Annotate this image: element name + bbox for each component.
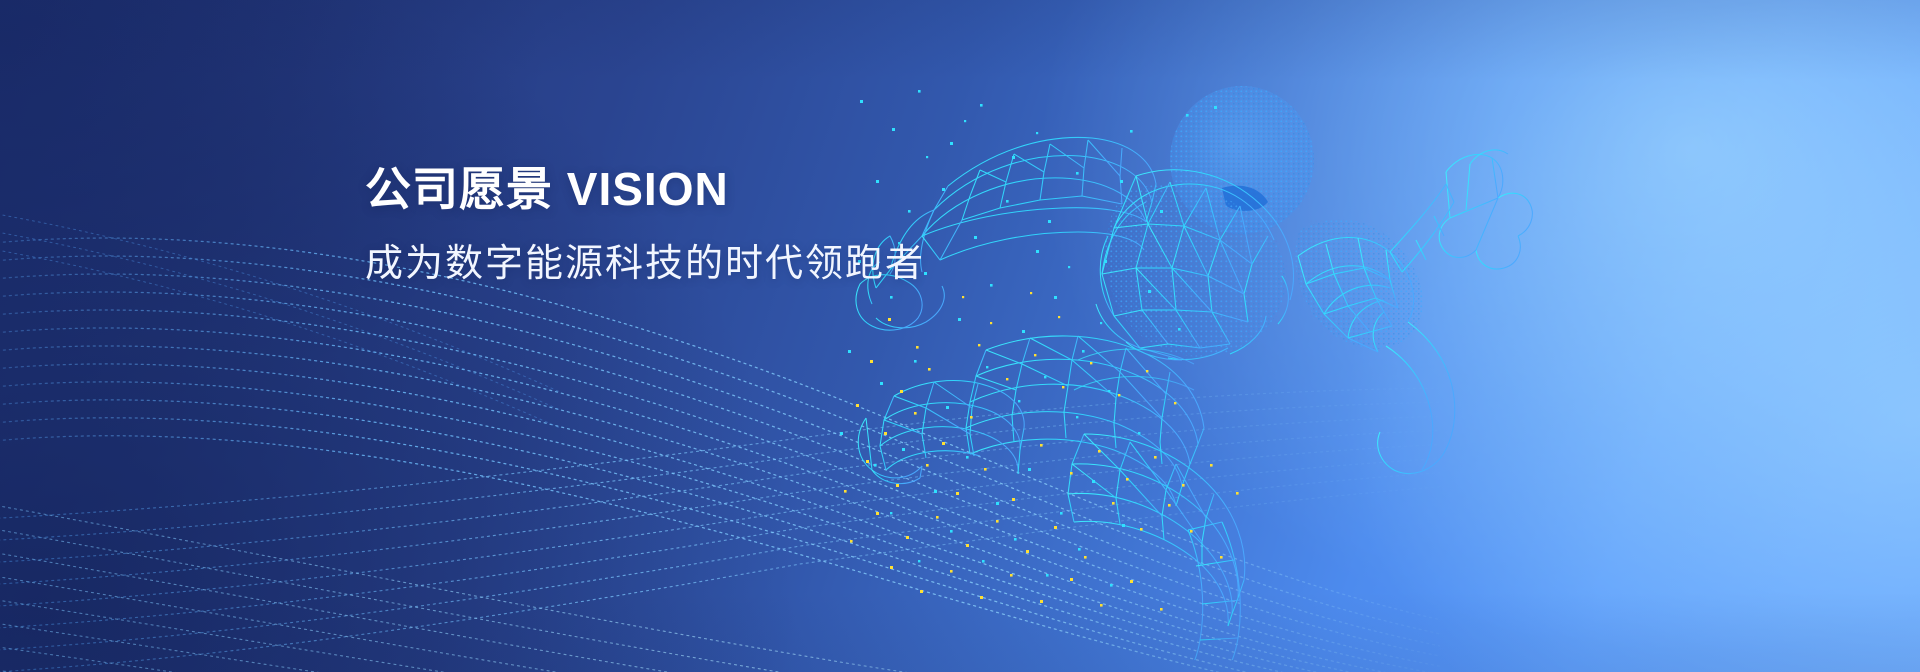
page-subtitle: 成为数字能源科技的时代领跑者 bbox=[365, 242, 1065, 288]
page-title: 公司愿景 VISION bbox=[365, 162, 1065, 216]
hero-text-block: 公司愿景 VISION 成为数字能源科技的时代领跑者 bbox=[365, 162, 1065, 288]
background-shadow-left bbox=[0, 0, 1920, 672]
vision-hero-banner: 公司愿景 VISION 成为数字能源科技的时代领跑者 bbox=[0, 0, 1920, 672]
